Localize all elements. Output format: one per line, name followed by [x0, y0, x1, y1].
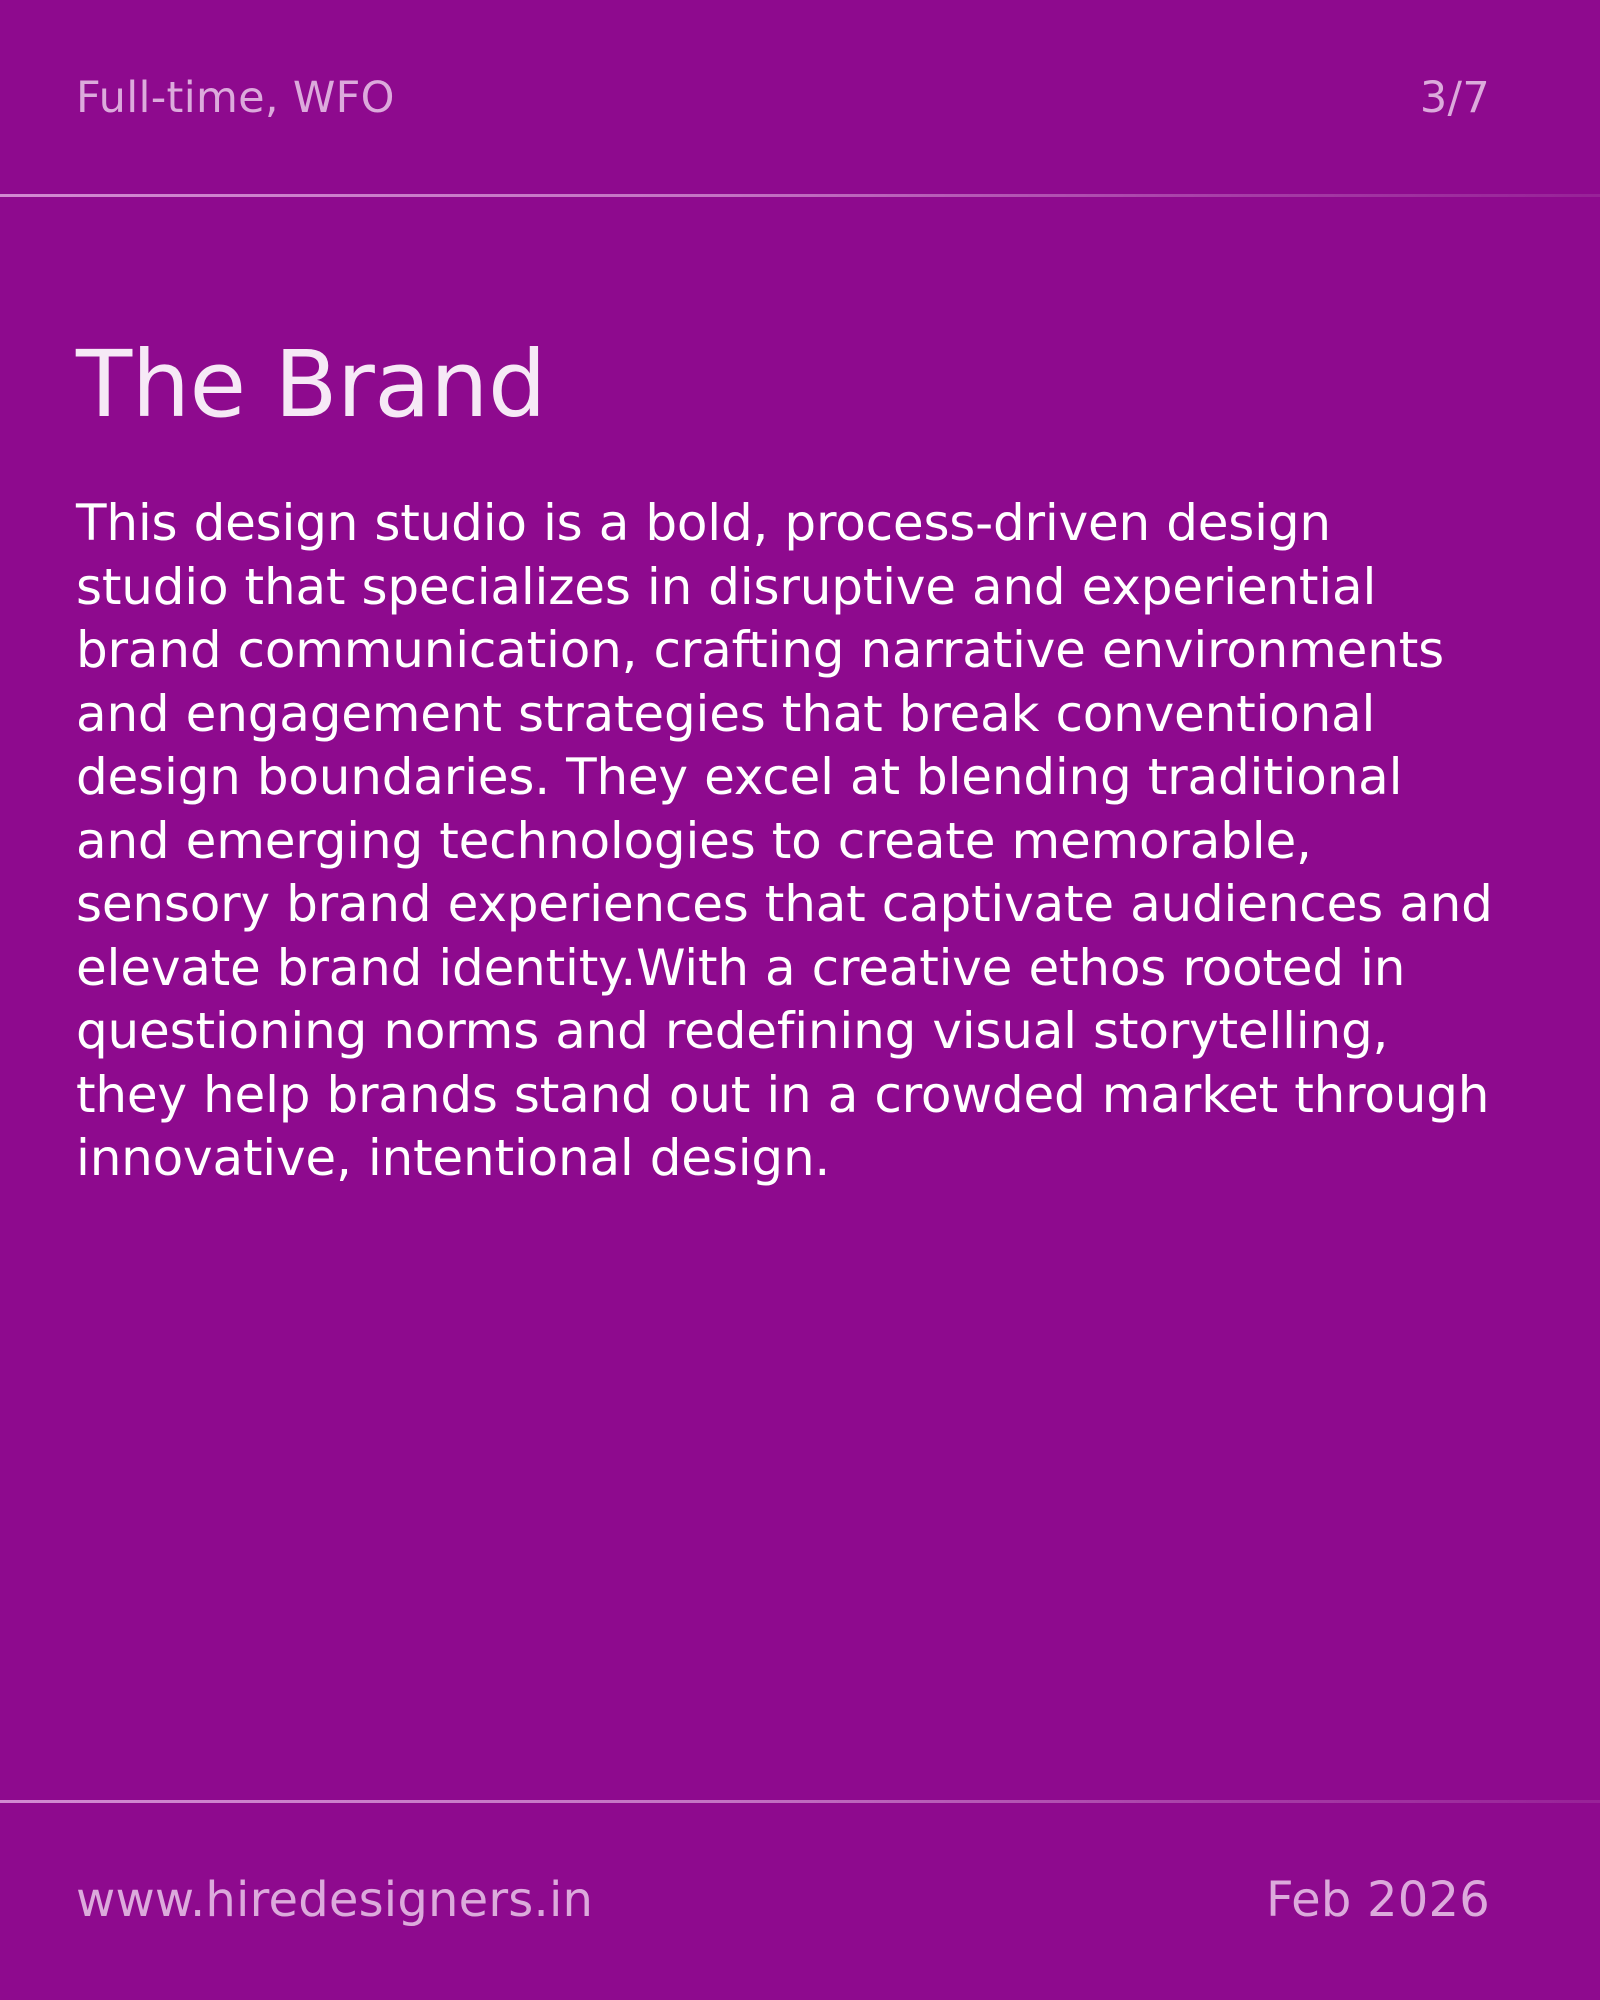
date-label: Feb 2026: [1266, 1876, 1522, 1924]
page-title: The Brand: [76, 197, 1524, 431]
employment-type-label: Full-time, WFO: [76, 77, 395, 120]
footer-divider: [0, 1800, 1600, 1803]
website-url[interactable]: www.hiredesigners.in: [76, 1876, 593, 1924]
brand-description-text: This design studio is a bold, process-dr…: [76, 431, 1496, 1191]
page-indicator: 3/7: [1420, 77, 1522, 120]
slide-header: Full-time, WFO 3/7: [0, 0, 1600, 197]
slide-main-content: The Brand This design studio is a bold, …: [0, 197, 1600, 1800]
slide-footer: www.hiredesigners.in Feb 2026: [0, 1800, 1600, 2000]
slide-container: Full-time, WFO 3/7 The Brand This design…: [0, 0, 1600, 2000]
